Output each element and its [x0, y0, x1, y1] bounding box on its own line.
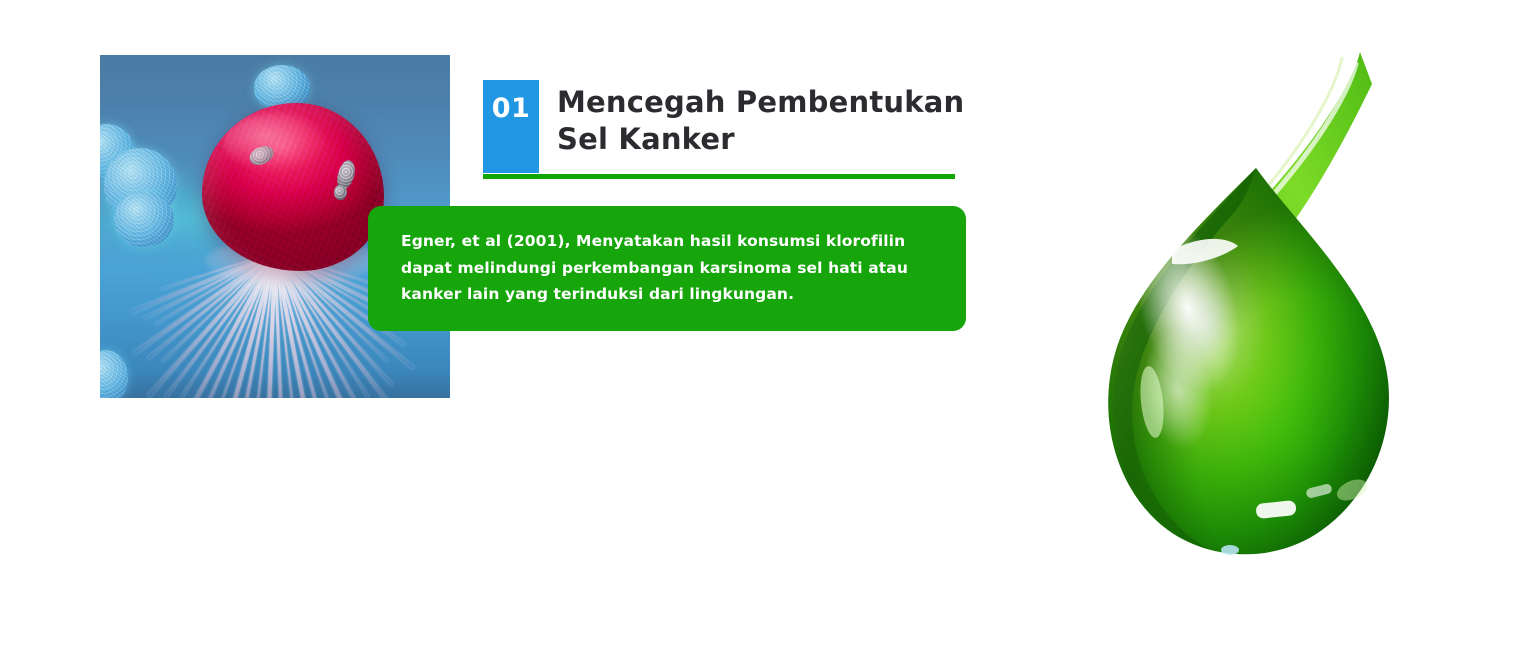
citation-callout-text: Egner, et al (2001), Menyatakan hasil ko… [401, 228, 936, 308]
granular-clump [247, 143, 277, 168]
green-chlorophyll-droplet [1060, 50, 1420, 605]
citation-callout-box: Egner, et al (2001), Menyatakan hasil ko… [368, 206, 966, 331]
slide-canvas: 01 Mencegah Pembentukan Sel Kanker Egner… [0, 0, 1525, 661]
citation-line-3: kanker lain yang terinduksi dari lingkun… [401, 281, 936, 308]
section-title-line-1: Mencegah Pembentukan [557, 84, 977, 121]
section-title-line-2: Sel Kanker [557, 121, 977, 158]
section-title: Mencegah Pembentukan Sel Kanker [557, 84, 977, 158]
title-underline-rule [483, 174, 955, 179]
section-number-badge: 01 [483, 80, 539, 173]
droplet-base-glint [1221, 545, 1239, 555]
citation-line-1: Egner, et al (2001), Menyatakan hasil ko… [401, 228, 936, 255]
tumour-cell-body [202, 103, 384, 271]
droplet-illustration [1060, 50, 1420, 605]
citation-line-2: dapat melindungi perkembangan karsinoma … [401, 255, 936, 282]
